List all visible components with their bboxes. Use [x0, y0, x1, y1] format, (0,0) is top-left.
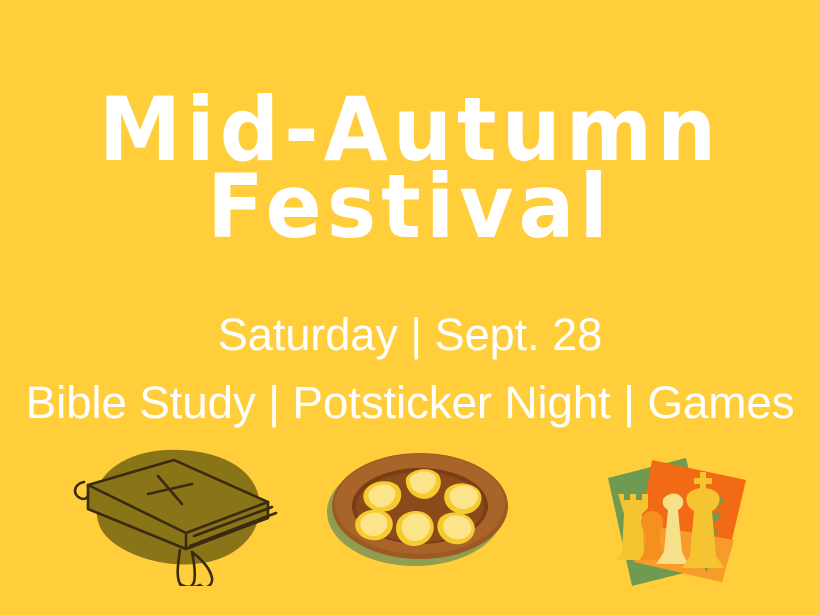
poster-title: Mid-Autumn Festival [0, 88, 820, 245]
potstickers-illustration [320, 436, 520, 576]
poster-details: Saturday | Sept. 28 Bible Study | Potsti… [0, 308, 820, 430]
bible-icon [62, 436, 292, 586]
chess-pieces-icon [590, 436, 780, 596]
illustration-row [0, 436, 820, 606]
potstickers-bowl-icon [320, 436, 520, 576]
chess-games-illustration [590, 436, 780, 596]
title-line-2: Festival [0, 165, 820, 250]
event-date-line: Saturday | Sept. 28 [0, 308, 820, 362]
bible-illustration [62, 436, 292, 586]
poster-canvas: Mid-Autumn Festival Saturday | Sept. 28 … [0, 0, 820, 615]
event-activities-line: Bible Study | Potsticker Night | Games [0, 376, 820, 430]
